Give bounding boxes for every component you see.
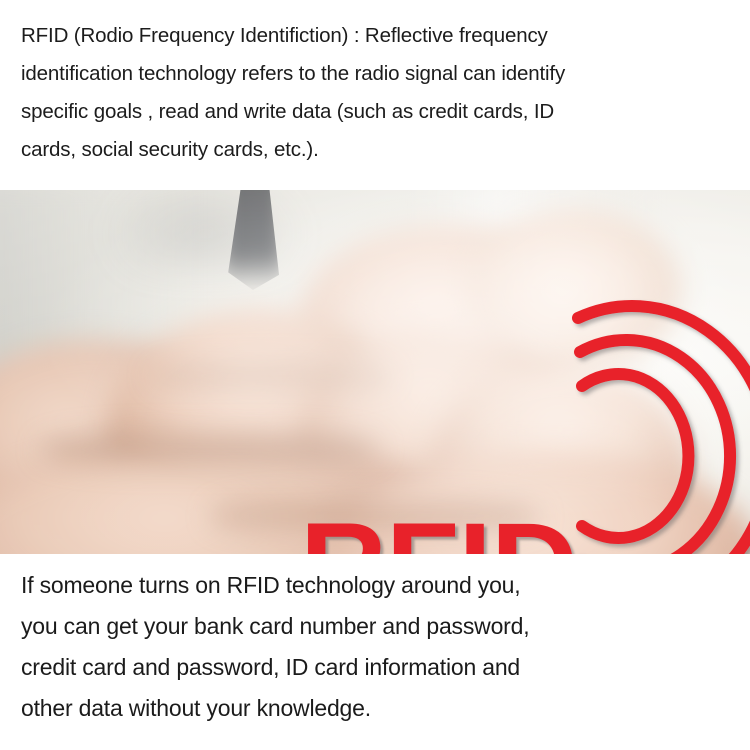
top-paragraph-line-2: identification technology refers to the … (21, 55, 728, 93)
page-root: RFID (Rodio Frequency Identifiction) : R… (0, 0, 750, 750)
rfid-hero-photo: RFID (0, 190, 750, 554)
top-paragraph-line-4: cards, social security cards, etc.). (21, 131, 728, 169)
bottom-paragraph-line-1: If someone turns on RFID technology arou… (21, 565, 728, 606)
bottom-paragraph-line-3: credit card and password, ID card inform… (21, 647, 728, 688)
top-paragraph-line-1: RFID (Rodio Frequency Identifiction) : R… (21, 17, 728, 55)
photo-frosted-haze (0, 190, 750, 554)
top-description-block: RFID (Rodio Frequency Identifiction) : R… (0, 0, 750, 190)
top-paragraph-line-3: specific goals , read and write data (su… (21, 93, 728, 131)
bottom-paragraph-line-4: other data without your knowledge. (21, 688, 728, 729)
bottom-paragraph-line-2: you can get your bank card number and pa… (21, 606, 728, 647)
bottom-description-block: If someone turns on RFID technology arou… (0, 554, 750, 750)
